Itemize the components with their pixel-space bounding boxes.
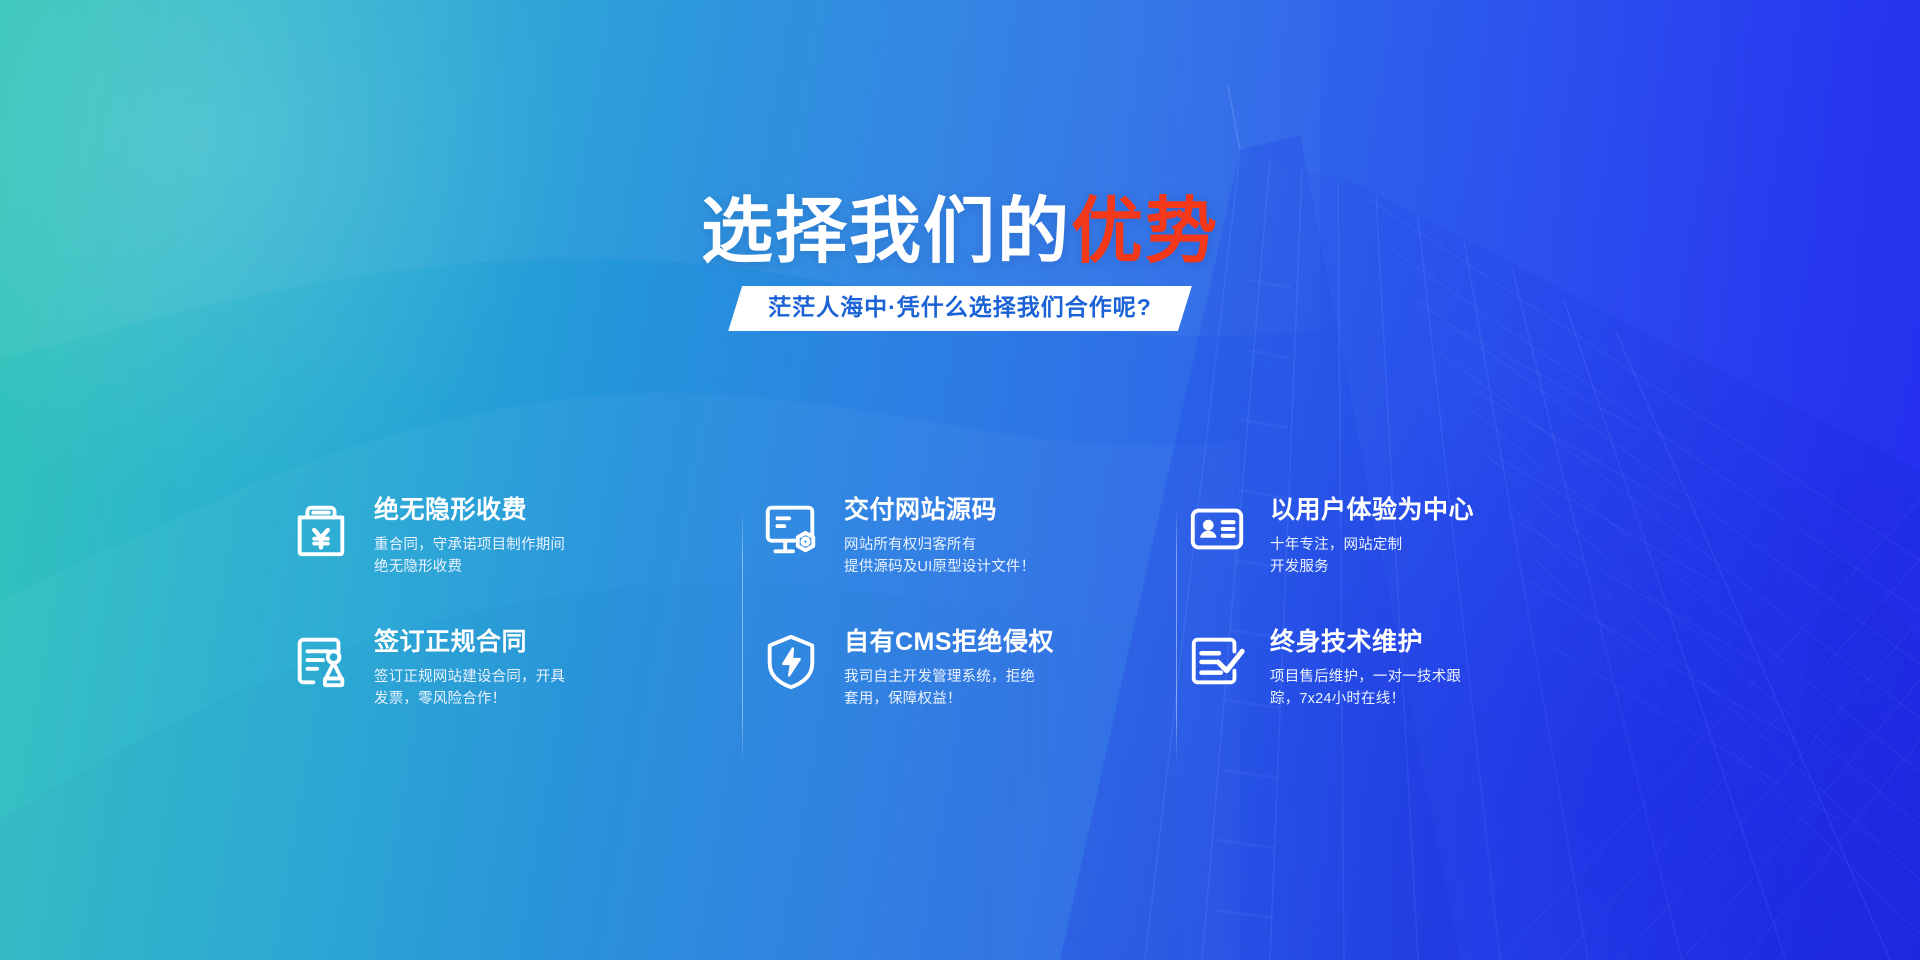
- feature-desc-line: 绝无隐形收费: [374, 556, 565, 578]
- feature-text: 以用户体验为中心 十年专注，网站定制 开发服务: [1270, 494, 1474, 579]
- page-title-main: 选择我们的: [701, 192, 1071, 272]
- feature-text: 自有CMS拒绝侵权 我司自主开发管理系统，拒绝 套用，保障权益！: [844, 626, 1054, 711]
- feature-desc-line: 重合同，守承诺项目制作期间: [374, 534, 565, 556]
- shopping-bag-yen-icon: [290, 498, 352, 560]
- feature-desc-line: 开发服务: [1270, 556, 1474, 578]
- feature-desc-line: 十年专注，网站定制: [1270, 534, 1474, 556]
- feature-description: 十年专注，网站定制 开发服务: [1270, 534, 1474, 579]
- feature-description: 重合同，守承诺项目制作期间 绝无隐形收费: [374, 534, 565, 579]
- feature-text: 签订正规合同 签订正规网站建设合同，开具 发票，零风险合作！: [374, 626, 565, 711]
- page-title-accent: 优势: [1071, 192, 1219, 272]
- feature-description: 我司自主开发管理系统，拒绝 套用，保障权益！: [844, 666, 1054, 711]
- skyscraper-background-image: [940, 0, 1920, 960]
- feature-text: 绝无隐形收费 重合同，守承诺项目制作期间 绝无隐形收费: [374, 494, 565, 579]
- feature-item: 自有CMS拒绝侵权 我司自主开发管理系统，拒绝 套用，保障权益！: [708, 626, 1138, 758]
- feature-item: 终身技术维护 项目售后维护，一对一技术跟 踪，7x24小时在线！: [1138, 626, 1630, 758]
- subtitle-text: 茫茫人海中·凭什么选择我们合作呢?: [768, 295, 1152, 320]
- feature-title: 交付网站源码: [844, 496, 1035, 525]
- feature-desc-line: 提供源码及UI原型设计文件！: [844, 556, 1035, 578]
- source-code-monitor-icon: [760, 498, 822, 560]
- features-grid: 绝无隐形收费 重合同，守承诺项目制作期间 绝无隐形收费: [290, 494, 1630, 758]
- feature-desc-line: 项目售后维护，一对一技术跟: [1270, 666, 1461, 688]
- heading-block: 选择我们的优势 茫茫人海中·凭什么选择我们合作呢?: [0, 196, 1920, 331]
- feature-title: 终身技术维护: [1270, 628, 1461, 657]
- feature-item: 交付网站源码 网站所有权归客所有 提供源码及UI原型设计文件！: [708, 494, 1138, 626]
- feature-title: 以用户体验为中心: [1270, 496, 1474, 525]
- feature-description: 项目售后维护，一对一技术跟 踪，7x24小时在线！: [1270, 666, 1461, 711]
- feature-description: 网站所有权归客所有 提供源码及UI原型设计文件！: [844, 534, 1035, 579]
- feature-item: 签订正规合同 签订正规网站建设合同，开具 发票，零风险合作！: [290, 626, 708, 758]
- id-card-user-icon: [1186, 498, 1248, 560]
- contract-signature-icon: [290, 630, 352, 692]
- page-title: 选择我们的优势: [701, 196, 1219, 268]
- background-wave-decoration: [0, 0, 1920, 960]
- feature-desc-line: 签订正规网站建设合同，开具: [374, 666, 565, 688]
- checklist-check-icon: [1186, 630, 1248, 692]
- advantages-banner: 选择我们的优势 茫茫人海中·凭什么选择我们合作呢? 绝无: [0, 0, 1920, 960]
- feature-text: 终身技术维护 项目售后维护，一对一技术跟 踪，7x24小时在线！: [1270, 626, 1461, 711]
- feature-desc-line: 踪，7x24小时在线！: [1270, 688, 1461, 710]
- feature-desc-line: 套用，保障权益！: [844, 688, 1054, 710]
- subtitle-ribbon: 茫茫人海中·凭什么选择我们合作呢?: [728, 286, 1192, 331]
- feature-item: 以用户体验为中心 十年专注，网站定制 开发服务: [1138, 494, 1630, 626]
- feature-desc-line: 我司自主开发管理系统，拒绝: [844, 666, 1054, 688]
- feature-item: 绝无隐形收费 重合同，守承诺项目制作期间 绝无隐形收费: [290, 494, 708, 626]
- feature-title: 签订正规合同: [374, 628, 565, 657]
- feature-desc-line: 网站所有权归客所有: [844, 534, 1035, 556]
- feature-description: 签订正规网站建设合同，开具 发票，零风险合作！: [374, 666, 565, 711]
- shield-bolt-icon: [760, 630, 822, 692]
- feature-desc-line: 发票，零风险合作！: [374, 688, 565, 710]
- feature-title: 绝无隐形收费: [374, 496, 565, 525]
- feature-text: 交付网站源码 网站所有权归客所有 提供源码及UI原型设计文件！: [844, 494, 1035, 579]
- feature-title: 自有CMS拒绝侵权: [844, 628, 1054, 657]
